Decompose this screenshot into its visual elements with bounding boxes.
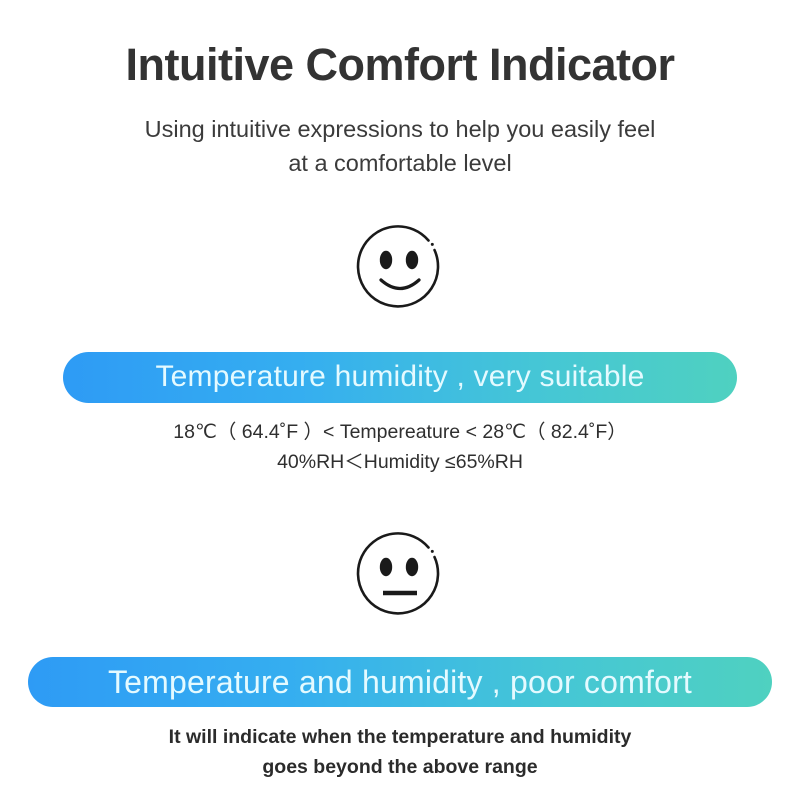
status-banner-label: Temperature humidity , very suitable — [155, 360, 644, 394]
comfort-indicator-page: Intuitive Comfort Indicator Using intuit… — [0, 0, 800, 800]
poor-comfort-description-line-1: It will indicate when the temperature an… — [169, 722, 632, 752]
subtitle-line-1: Using intuitive expressions to help you … — [145, 112, 656, 146]
status-banner-poor-comfort: Temperature and humidity , poor comfort — [28, 657, 772, 707]
poor-comfort-description-line-2: goes beyond the above range — [169, 752, 632, 782]
status-banner-label: Temperature and humidity , poor comfort — [108, 664, 692, 701]
comfort-face-happy — [350, 218, 450, 318]
comfort-range-temperature: 18℃（ 64.4˚F ）< Tempereature < 28℃（ 82.4˚… — [173, 417, 627, 447]
status-banner-comfortable: Temperature humidity , very suitable — [63, 352, 737, 403]
page-subtitle: Using intuitive expressions to help you … — [145, 112, 656, 180]
smiley-face-icon — [350, 218, 450, 318]
subtitle-line-2: at a comfortable level — [145, 146, 656, 180]
comfort-face-neutral — [350, 525, 450, 625]
comfort-range-humidity: 40%RH＜Humidity ≤65%RH — [173, 447, 627, 477]
poor-comfort-description: It will indicate when the temperature an… — [169, 722, 632, 782]
page-title: Intuitive Comfort Indicator — [126, 40, 675, 90]
comfort-range-text: 18℃（ 64.4˚F ）< Tempereature < 28℃（ 82.4˚… — [173, 417, 627, 477]
neutral-face-icon — [350, 525, 450, 625]
